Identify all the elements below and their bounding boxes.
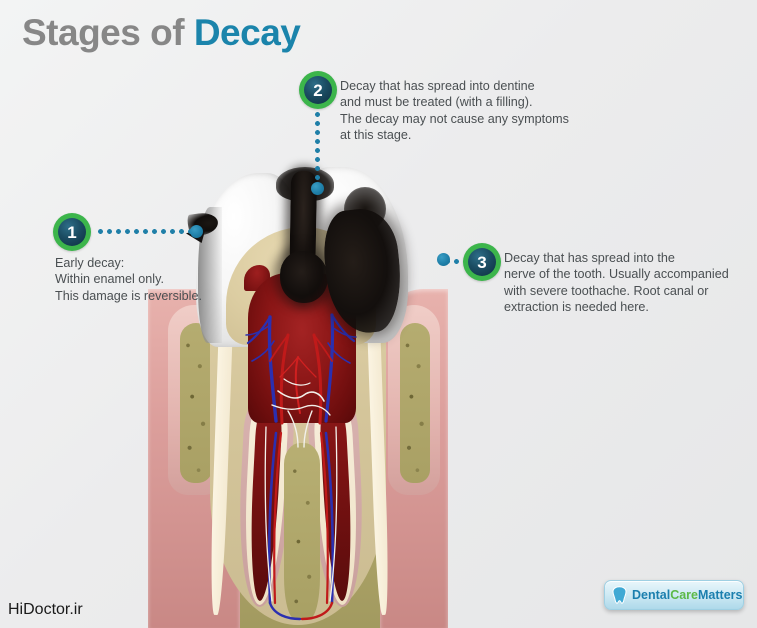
dentalcarematters-logo[interactable]: DentalCareMatters: [604, 580, 744, 610]
callout-badge-1-number: 1: [58, 218, 86, 246]
callout-badge-1[interactable]: 1: [53, 213, 91, 251]
page-title: Stages of Decay: [22, 12, 300, 54]
infographic-canvas: Stages of Decay: [0, 0, 757, 628]
title-part-decay: Decay: [194, 12, 301, 53]
callout-badge-3[interactable]: 3: [463, 243, 501, 281]
callout-badge-2-number: 2: [304, 76, 332, 104]
callout-badge-3-number: 3: [468, 248, 496, 276]
callout-text-2: Decay that has spread into dentine and m…: [340, 78, 569, 144]
leader-line-2: [315, 110, 320, 184]
callout-text-1: Early decay: Within enamel only. This da…: [55, 255, 202, 304]
logo-text-dental: Dental: [632, 588, 670, 602]
title-part-stages-of: Stages of: [22, 12, 194, 53]
logo-text-care: Care: [670, 588, 698, 602]
leader-endpoint-2: [311, 182, 324, 195]
logo-text-matters: Matters: [698, 588, 742, 602]
tooth-icon: [612, 586, 627, 604]
decay-lesion-dentine: [280, 251, 328, 303]
leader-endpoint-3: [437, 253, 450, 266]
callout-text-3: Decay that has spread into the nerve of …: [504, 250, 729, 316]
watermark: HiDoctor.ir: [8, 601, 83, 619]
callout-badge-2[interactable]: 2: [299, 71, 337, 109]
leader-line-1: [96, 229, 192, 234]
logo-wordmark: DentalCareMatters: [632, 588, 742, 602]
leader-endpoint-1: [190, 225, 203, 238]
